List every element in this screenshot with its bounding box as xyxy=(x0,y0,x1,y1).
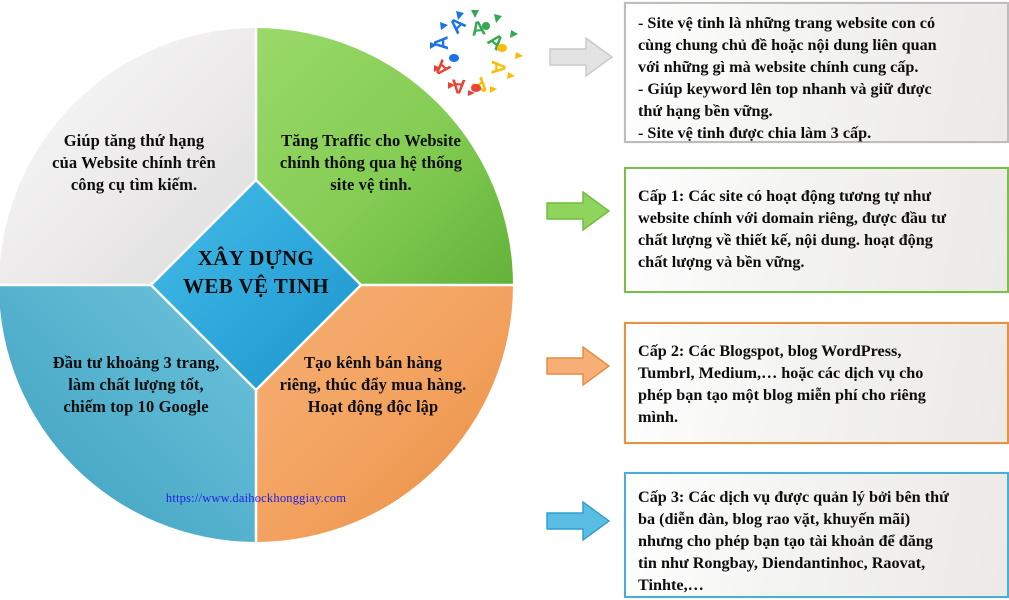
quad-bl-line2: làm chất lượng tốt, xyxy=(68,375,204,394)
info-0-line-1: cùng chung chủ đề hoặc nội dung liên qua… xyxy=(638,34,997,56)
quad-tl-line3: công cụ tìm kiếm. xyxy=(71,175,197,194)
quadrant-label-top-left: Giúp tăng thứ hạng của Website chính trê… xyxy=(26,130,242,196)
watermark-url: https://www.daihockhonggiay.com xyxy=(106,491,406,506)
svg-text:A: A xyxy=(486,60,508,75)
quad-br-line3: Hoạt động độc lập xyxy=(308,397,439,416)
svg-text:A: A xyxy=(431,35,453,50)
info-box-level-1: Cấp 1: Các site có hoạt động tương tự nh… xyxy=(624,167,1009,293)
info-0-line-0: - Site vệ tinh là những trang website co… xyxy=(638,12,997,34)
arrow-right-icon-gray xyxy=(548,35,614,79)
infographic-page: Giúp tăng thứ hạng của Website chính trê… xyxy=(0,0,1009,600)
info-2-line-2: phép bạn tạo một blog miễn phí cho riêng xyxy=(638,384,997,406)
info-1-line-0: Cấp 1: Các site có hoạt động tương tự nh… xyxy=(638,185,997,207)
info-box-level-2: Cấp 2: Các Blogspot, blog WordPress, Tum… xyxy=(624,322,1009,444)
info-1-line-2: chất lượng về thiết kế, nội dung. hoạt đ… xyxy=(638,229,997,251)
info-3-line-0: Cấp 3: Các dịch vụ được quản lý bởi bên … xyxy=(638,486,997,508)
info-3-line-4: Tinhte,… xyxy=(638,574,997,596)
info-0-line-2: với những gì mà website chính cung cấp. xyxy=(638,56,997,78)
quad-tl-line2: của Website chính trên xyxy=(52,153,216,172)
quadrant-label-bottom-left: Đầu tư khoảng 3 trang, làm chất lượng tố… xyxy=(20,352,252,418)
quad-tr-line1: Tăng Traffic cho Website xyxy=(281,131,461,150)
quad-tr-line2: chính thông qua hệ thống xyxy=(280,153,462,172)
arrow-right-icon-green xyxy=(545,189,611,233)
quad-tl-line1: Giúp tăng thứ hạng xyxy=(64,131,205,150)
info-3-line-3: tin như Rongbay, Diendantinhoc, Raovat, xyxy=(638,552,997,574)
info-3-line-2: nhưng cho phép bạn tạo tài khoản để đăng xyxy=(638,530,997,552)
info-box-overview: - Site vệ tinh là những trang website co… xyxy=(624,2,1009,143)
info-1-line-1: website chính với domain riêng, được đầu… xyxy=(638,207,997,229)
quadrant-label-top-right: Tăng Traffic cho Website chính thông qua… xyxy=(258,130,484,196)
arrow-right-icon-blue xyxy=(545,499,611,543)
center-diamond-label: XÂY DỰNG WEB VỆ TINH xyxy=(156,245,356,300)
quad-tr-line3: site vệ tinh. xyxy=(330,175,412,194)
center-title-line1: XÂY DỰNG xyxy=(198,246,315,270)
center-title-line2: WEB VỆ TINH xyxy=(183,274,329,298)
arrow-right-icon-orange xyxy=(545,344,611,388)
quadrant-label-bottom-right: Tạo kênh bán hàng riêng, thúc đẩy mua hà… xyxy=(258,352,488,418)
quad-bl-line1: Đầu tư khoảng 3 trang, xyxy=(53,353,220,372)
info-0-line-3: - Giúp keyword lên top nhanh và giữ được xyxy=(638,78,997,100)
quad-br-line2: riêng, thúc đẩy mua hàng. xyxy=(280,375,467,394)
info-0-line-5: - Site vệ tinh được chia làm 3 cấp. xyxy=(638,122,997,144)
info-3-line-1: ba (diễn đàn, blog rao vặt, khuyến mãi) xyxy=(638,508,997,530)
info-2-line-3: mình. xyxy=(638,406,997,428)
info-2-line-0: Cấp 2: Các Blogspot, blog WordPress, xyxy=(638,340,997,362)
quad-bl-line3: chiếm top 10 Google xyxy=(63,397,208,416)
info-box-level-3: Cấp 3: Các dịch vụ được quản lý bởi bên … xyxy=(624,472,1009,598)
info-0-line-4: thứ hạng bền vững. xyxy=(638,100,997,122)
info-1-line-3: chất lượng và bền vững. xyxy=(638,251,997,273)
quad-br-line1: Tạo kênh bán hàng xyxy=(304,353,442,372)
colored-letter-a-burst-icon: A A A A A A A A xyxy=(424,2,534,98)
info-2-line-1: Tumbrl, Medium,… hoặc các dịch vụ cho xyxy=(638,362,997,384)
